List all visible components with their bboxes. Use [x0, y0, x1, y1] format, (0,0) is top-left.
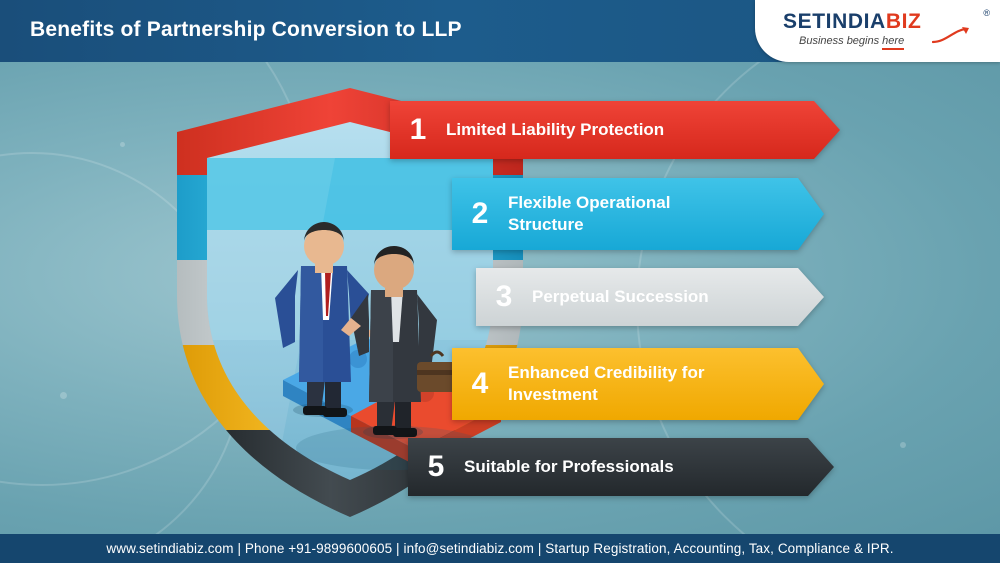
- benefit-item-3[interactable]: 3 Perpetual Succession: [476, 268, 824, 326]
- benefit-label-4: Enhanced Credibility for Investment: [508, 362, 774, 406]
- benefit-item-2[interactable]: 2 Flexible Operational Structure: [452, 178, 824, 250]
- logo-wordmark-accent: BIZ: [886, 10, 922, 33]
- benefit-item-5[interactable]: 5 Suitable for Professionals: [408, 438, 834, 496]
- logo-tagline-prefix: Business begins: [799, 35, 882, 47]
- benefit-label-5: Suitable for Professionals: [464, 456, 704, 478]
- benefit-item-1[interactable]: 1 Limited Liability Protection: [390, 101, 840, 159]
- benefit-label-1: Limited Liability Protection: [446, 119, 694, 141]
- decorative-dot: [60, 392, 67, 399]
- logo-tagline-accent: here: [882, 35, 904, 50]
- benefit-number-1: 1: [390, 113, 446, 147]
- benefit-label-3: Perpetual Succession: [532, 286, 739, 308]
- decorative-dot: [120, 142, 125, 147]
- benefit-item-4[interactable]: 4 Enhanced Credibility for Investment: [452, 348, 824, 420]
- benefit-number-2: 2: [452, 197, 508, 231]
- logo-tagline: Business begins here: [799, 35, 904, 47]
- logo-wordmark: SETINDIABIZ: [783, 10, 921, 34]
- benefit-number-5: 5: [408, 450, 464, 484]
- footer-bar: www.setindiabiz.com | Phone +91-98996006…: [0, 534, 1000, 563]
- infographic-canvas: 1 Limited Liability Protection 2 Flexibl…: [0, 0, 1000, 563]
- registered-mark: ®: [983, 8, 990, 18]
- page-title: Benefits of Partnership Conversion to LL…: [30, 18, 462, 42]
- footer-contact-text: www.setindiabiz.com | Phone +91-98996006…: [106, 541, 893, 556]
- swoosh-icon: [932, 26, 984, 44]
- benefit-label-2: Flexible Operational Structure: [508, 192, 768, 236]
- brand-logo[interactable]: SETINDIABIZ ® Business begins here: [755, 0, 1000, 62]
- benefit-number-4: 4: [452, 367, 508, 401]
- header-bar: Benefits of Partnership Conversion to LL…: [0, 0, 1000, 62]
- decorative-dot: [900, 442, 906, 448]
- benefit-number-3: 3: [476, 280, 532, 314]
- logo-wordmark-primary: SETINDIA: [783, 10, 886, 33]
